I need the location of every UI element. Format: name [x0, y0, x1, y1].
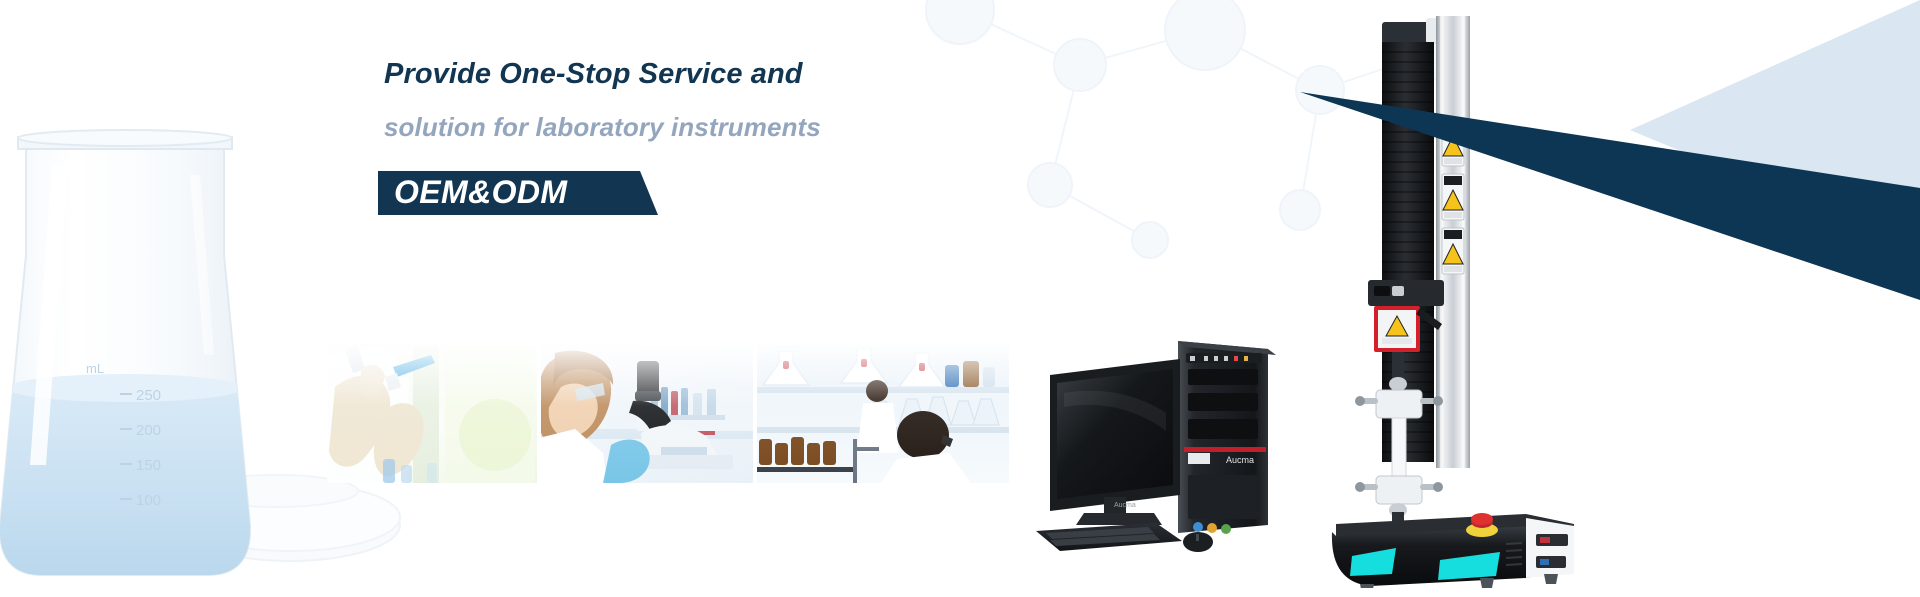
- universal-tensile-testing-machine: [1330, 8, 1580, 588]
- hero-banner: 250 200 150 100 mL Provide One-Stop Serv…: [0, 0, 1920, 597]
- svg-text:100: 100: [136, 492, 161, 509]
- headline-line-1: Provide One-Stop Service and: [384, 55, 1004, 94]
- computer-keyboard: [1036, 523, 1182, 551]
- svg-text:mL: mL: [86, 361, 104, 376]
- computer-monitor: Aucma: [1050, 359, 1180, 525]
- warning-label-group: [1442, 120, 1464, 274]
- warning-label-1: [1442, 120, 1464, 166]
- warning-label-2: [1442, 174, 1464, 220]
- lab-photo-strip: [327, 343, 1009, 483]
- light-blue-triangle: [1630, 0, 1920, 250]
- warning-label-3: [1442, 228, 1464, 274]
- computer-mouse: [1183, 532, 1213, 552]
- svg-text:200: 200: [136, 422, 161, 439]
- photo-lab-team: [757, 343, 1009, 483]
- svg-text:150: 150: [136, 457, 161, 474]
- svg-text:Aucma: Aucma: [1226, 455, 1254, 465]
- headline-line-2: solution for laboratory instruments: [384, 110, 1004, 145]
- photo-pipetting: [327, 343, 537, 483]
- photo-microscope: [541, 343, 753, 483]
- headline-block: Provide One-Stop Service and solution fo…: [384, 55, 1004, 145]
- oem-odm-label: OEM&ODM: [394, 174, 567, 211]
- svg-text:Aucma: Aucma: [1114, 502, 1136, 509]
- flask-body: [0, 130, 270, 587]
- computer-tower: Aucma: [1178, 341, 1276, 534]
- oem-odm-badge: OEM&ODM: [378, 171, 658, 215]
- svg-text:250: 250: [136, 387, 161, 404]
- desktop-computer: Aucma Aucma: [1030, 335, 1300, 565]
- machine-base: [1332, 513, 1574, 588]
